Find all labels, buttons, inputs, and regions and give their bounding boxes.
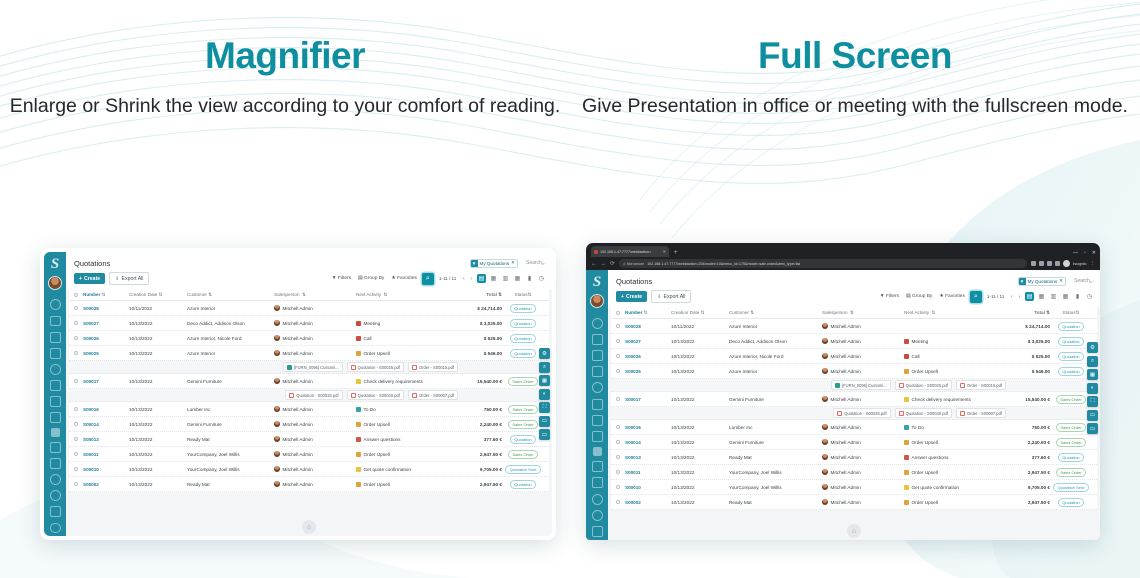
cell-salesperson: Mitchell Admin [822, 454, 904, 460]
sidebar-item-home[interactable] [50, 299, 61, 310]
table-row[interactable]: S0002710/13/2022Deco Addict, Addison Ols… [611, 334, 1097, 349]
pivot-view-button[interactable]: ▦ [1061, 292, 1070, 301]
sidebar-item-contacts[interactable] [592, 399, 603, 410]
home-indicator[interactable]: ⌂ [302, 520, 316, 534]
theme-icon[interactable]: ◐ [1087, 383, 1098, 394]
activity-icon [904, 339, 909, 344]
table-row[interactable]: S0001610/13/2022Lumber IncMitchell Admin… [611, 420, 1097, 435]
cell-next-activity[interactable] [904, 324, 1000, 329]
attachment-chip[interactable]: [FURN_0096] Customi... [831, 380, 891, 390]
minimize-icon[interactable]: — [1073, 250, 1078, 256]
row-checkbox[interactable] [616, 324, 625, 328]
cell-customer: Gemini Furniture [187, 422, 274, 427]
activity-icon [356, 407, 361, 412]
row-checkbox[interactable] [616, 425, 625, 429]
row-checkbox[interactable] [74, 306, 83, 310]
column-header-next-activity[interactable]: Next Activity ⇅ [356, 292, 452, 298]
cell-status: Sales Order [502, 420, 544, 429]
close-icon[interactable]: ✕ [1059, 278, 1065, 284]
cell-total: $ 525.00 [1000, 354, 1050, 359]
cell-number[interactable]: S00017 [83, 379, 129, 384]
row-checkbox[interactable] [616, 485, 625, 489]
table-row[interactable]: S0002510/13/2022Azure InteriorMitchell A… [69, 346, 549, 361]
favorites-button[interactable]: ★ Favorites [389, 275, 419, 282]
sidebar-item-calendar[interactable] [50, 332, 61, 343]
row-checkbox[interactable] [616, 369, 625, 373]
close-icon[interactable]: ✕ [511, 260, 517, 266]
row-checkbox[interactable] [74, 422, 83, 426]
table-row[interactable]: S0001610/13/2022Lumber IncMitchell Admin… [69, 402, 549, 417]
row-checkbox[interactable] [616, 455, 625, 459]
settings-icon[interactable]: ⚙ [1087, 342, 1098, 353]
attachment-row: [FURN_0096] Customi...Quotation - S00025… [611, 379, 1097, 392]
cell-creation-date: 10/11/2022 [671, 324, 729, 329]
table-row[interactable]: S0001710/13/2022Gemini FurnitureMitchell… [69, 374, 549, 389]
column-header-total[interactable]: Total ⇅ [452, 292, 502, 298]
table-row[interactable]: S0001010/13/2022YourCompany, Joel Willis… [611, 480, 1097, 495]
magnifier-icon: ⌕ [426, 275, 430, 283]
cell-number[interactable]: S00026 [625, 354, 671, 359]
column-header-salesperson[interactable]: Salesperson ⇅ [274, 292, 356, 298]
feature-headings: Magnifier Enlarge or Shrink the view acc… [0, 36, 1140, 120]
column-header-customer[interactable]: Customer ⇅ [187, 292, 274, 298]
extension-icon[interactable] [1055, 261, 1060, 266]
cell-number[interactable]: S00026 [83, 336, 129, 341]
pdf-file-icon [899, 411, 904, 416]
cell-creation-date: 10/13/2022 [671, 397, 729, 402]
group-by-button[interactable]: ▤ Group By [904, 293, 934, 300]
app-actionbar: + Create ⇩ Export All ▼ Filters ▤ [66, 272, 552, 289]
row-checkbox[interactable] [74, 379, 83, 383]
row-checkbox[interactable] [74, 351, 83, 355]
export-all-button[interactable]: ⇩ Export All [109, 272, 149, 285]
table-row[interactable]: S0001710/13/2022Gemini FurnitureMitchell… [611, 392, 1097, 407]
list-view-button[interactable]: ▤ [1025, 292, 1034, 301]
table-body: S0002810/11/2022Azure InteriorMitchell A… [69, 301, 549, 492]
sidebar-item-settings[interactable] [592, 382, 603, 393]
cell-number[interactable]: S00016 [83, 407, 129, 412]
clock-icon: ◷ [539, 275, 544, 282]
extension-icon[interactable] [1047, 261, 1052, 266]
page-title: Quotations [616, 277, 652, 286]
filters-button[interactable]: ▼ Filters [330, 275, 353, 282]
avatar [274, 421, 280, 427]
kebab-menu-icon[interactable]: ⋮ [1090, 261, 1096, 267]
sidebar-item-notes[interactable] [592, 526, 603, 537]
row-checkbox[interactable] [74, 467, 83, 471]
column-header-number[interactable]: Number ⇅ [625, 310, 671, 316]
table-row[interactable]: S0002810/11/2022Azure InteriorMitchell A… [69, 301, 549, 316]
column-header-status[interactable]: Status ⇅ [502, 292, 544, 298]
column-header-total[interactable]: Total ⇅ [1000, 310, 1050, 316]
cell-next-activity[interactable]: Meeting [356, 321, 452, 326]
cell-total: 2,947.50 € [452, 452, 502, 457]
cell-status: Quotation [1050, 322, 1092, 331]
activity-view-button[interactable]: ◷ [1085, 292, 1094, 301]
column-header-number[interactable]: Number ⇅ [83, 292, 129, 298]
favorites-button[interactable]: ★ Favorites [937, 293, 967, 300]
group-by-button[interactable]: ▤ Group By [356, 275, 386, 282]
activity-icon [904, 485, 909, 490]
floating-toolbar[interactable]: ⚙⌕▦◐⛶▭▭ [539, 348, 550, 440]
sidebar-item-close[interactable] [51, 428, 60, 437]
sidebar-item-calendar[interactable] [592, 350, 603, 361]
cell-next-activity[interactable]: Check delivery requirements [904, 397, 1000, 402]
sidebar-item-contacts[interactable] [50, 380, 61, 391]
cell-next-activity[interactable]: Get quote confirmation [904, 485, 1000, 490]
sidebar-item-purchase[interactable] [592, 477, 603, 488]
attachment-chip[interactable]: Quotation - S00040.pdf [347, 390, 404, 400]
view-controls: ▼ Filters ▤ Group By ★ Favorites ⌕ [330, 273, 546, 285]
pivot-view-button[interactable]: ▦ [513, 274, 522, 283]
app-sidebar[interactable]: S [44, 252, 66, 536]
cell-customer: Azure Interior [187, 306, 274, 311]
cell-status: Quotation [502, 319, 544, 328]
cell-number[interactable]: S00014 [625, 440, 671, 445]
sidebar-item-close[interactable] [593, 447, 602, 456]
plus-icon: + [79, 276, 82, 282]
search-facet-my-quotations[interactable]: ▼ My Quotations ✕ [1018, 277, 1066, 286]
odoo-logo-icon[interactable]: S [589, 274, 606, 291]
cell-number[interactable]: S00011 [625, 470, 671, 475]
row-checkbox[interactable] [74, 437, 83, 441]
magnifier-button[interactable]: ⌕ [422, 273, 434, 285]
sidebar-item-purchase[interactable] [50, 458, 61, 469]
avatar [274, 350, 280, 356]
attachment-chip[interactable]: [FURN_0096] Customi... [283, 362, 343, 372]
cell-creation-date: 10/13/2022 [671, 440, 729, 445]
table-row[interactable]: S0000210/13/2022Ready MatMitchell AdminO… [611, 495, 1097, 510]
cell-number[interactable]: S00002 [625, 500, 671, 505]
avatar[interactable] [48, 276, 62, 290]
table-row[interactable]: S0002610/13/2022Azure Interior, Nicole F… [69, 331, 549, 346]
cell-status: Sales Order [1050, 395, 1092, 404]
cell-total: 750.00 € [1000, 425, 1050, 430]
table-row[interactable]: S0001110/13/2022YourCompany, Joel Willis… [611, 465, 1097, 480]
reload-icon[interactable]: ⟳ [610, 261, 615, 267]
cell-status: Quotation [1050, 367, 1092, 376]
cell-next-activity[interactable]: Call [356, 336, 452, 341]
column-header-salesperson[interactable]: Salesperson ⇅ [822, 310, 904, 316]
grid-icon[interactable]: ▦ [539, 375, 550, 386]
cell-next-activity[interactable]: Order Upsell [356, 422, 452, 427]
cell-number[interactable]: S00016 [625, 425, 671, 430]
profile-avatar[interactable] [1063, 260, 1070, 267]
cell-status: Quotation [502, 480, 544, 489]
sidebar-item-inventory[interactable] [50, 348, 61, 359]
clock-icon: ◷ [1087, 293, 1092, 300]
kanban-view-button[interactable]: ▦ [1037, 292, 1046, 301]
cell-number[interactable]: S00002 [83, 482, 129, 487]
close-icon[interactable]: ✕ [1092, 250, 1096, 256]
table-row[interactable]: S0002710/13/2022Deco Addict, Addison Ols… [69, 316, 549, 331]
browser-extensions[interactable]: Incognito ⋮ [1031, 260, 1095, 267]
cell-status: Quotation [1050, 453, 1092, 462]
address-bar[interactable]: ⚠ Not secure 192.168.1.47:7777/web#actio… [619, 259, 1027, 268]
sidebar-item-sales[interactable] [50, 316, 61, 327]
arrow-left-icon[interactable]: ← [591, 261, 597, 267]
cell-total: $ 525.00 [452, 336, 502, 341]
avatar [822, 353, 828, 359]
theme-icon[interactable]: ◐ [539, 389, 550, 400]
magnifier-button[interactable]: ⌕ [970, 291, 982, 303]
select-all-checkbox[interactable] [74, 293, 83, 297]
attachment-chip[interactable]: Quotation - S00025.pdf [895, 380, 952, 390]
row-checkbox[interactable] [616, 354, 625, 358]
cell-creation-date: 10/13/2022 [671, 369, 729, 374]
filter-icon: ▼ [880, 294, 885, 299]
cell-next-activity[interactable]: Order Upsell [356, 482, 452, 487]
fullscreen-screenshot: 192.168.1.47:7777/web#action= ✕ + — ▫ ✕ … [586, 243, 1100, 540]
column-header-creation-date[interactable]: Creation Date ⇅ [129, 292, 187, 298]
attachment-chip[interactable]: Order - S00007.pdf [408, 390, 458, 400]
cell-number[interactable]: S00025 [625, 369, 671, 374]
chevron-right-icon[interactable]: › [469, 276, 474, 282]
filter-icon: ▼ [332, 276, 337, 281]
odoo-logo-icon[interactable]: S [47, 256, 64, 273]
attachment-chip[interactable]: Quotation - S00025.pdf [833, 408, 890, 418]
attachment-chips: [FURN_0096] Customi...Quotation - S00025… [831, 380, 1006, 390]
chevron-right-icon[interactable]: › [1017, 294, 1022, 300]
sidebar-item-invoice[interactable] [592, 415, 603, 426]
pivot-icon: ▦ [515, 275, 521, 282]
cell-number[interactable]: S00017 [625, 397, 671, 402]
floating-toolbar[interactable]: ⚙⌕▦◐⛶▭▭ [1087, 342, 1098, 434]
cell-status: Sales Order [1050, 438, 1092, 447]
attachment-chip[interactable]: Order - S00015.pdf [956, 380, 1006, 390]
attachment-chip[interactable]: Quotation - S00025.pdf [347, 362, 404, 372]
cell-number[interactable]: S00028 [625, 324, 671, 329]
sidebar-item-sales[interactable] [592, 334, 603, 345]
cell-total: $ 3,025.00 [452, 321, 502, 326]
cell-customer: YourCompany, Joel Willis [729, 485, 822, 490]
home-indicator[interactable]: ⌂ [847, 524, 861, 538]
sidebar-item-invoice[interactable] [50, 396, 61, 407]
cell-status: Quotation [502, 304, 544, 313]
attachment-chip[interactable]: Order - S00007.pdf [956, 408, 1006, 418]
attachment-row: Quotation - S00025.pdfQuotation - S00040… [611, 407, 1097, 420]
cell-number[interactable]: S00028 [83, 306, 129, 311]
filters-button[interactable]: ▼ Filters [878, 293, 901, 300]
window-controls[interactable]: — ▫ ✕ [1073, 250, 1096, 256]
bookmark-icon[interactable]: ▭ [539, 416, 550, 427]
table-row[interactable]: S0001410/13/2022Gemini FurnitureMitchell… [69, 417, 549, 432]
avatar [274, 436, 280, 442]
bookmark-icon[interactable]: ▭ [1087, 410, 1098, 421]
cell-number[interactable]: S00027 [83, 321, 129, 326]
search-facet-my-quotations[interactable]: ▼ My Quotations ✕ [470, 259, 518, 268]
chevron-down-icon[interactable]: ⌄ [540, 260, 545, 267]
sidebar-item-gear[interactable] [50, 523, 61, 534]
app-sidebar[interactable]: S [586, 270, 608, 540]
cell-next-activity[interactable]: Get quote confirmation [356, 467, 452, 472]
cell-next-activity[interactable]: Call [904, 354, 1000, 359]
maximize-icon[interactable]: ▫ [1084, 250, 1086, 256]
cell-next-activity[interactable]: Order Upsell [904, 470, 1000, 475]
cell-next-activity[interactable]: To Do [356, 407, 452, 412]
fullscreen-icon[interactable]: ⛶ [1087, 396, 1098, 407]
sidebar-item-chart[interactable] [592, 461, 603, 472]
table-row[interactable]: S0002810/11/2022Azure InteriorMitchell A… [611, 319, 1097, 334]
pager-range: 1-11 / 11 [437, 276, 458, 281]
filters-label: Filters [338, 276, 351, 281]
sidebar-item-notes[interactable] [50, 506, 61, 517]
cell-number[interactable]: S00013 [83, 437, 129, 442]
graph-view-button[interactable]: ▮ [525, 274, 534, 283]
cell-number[interactable]: S00025 [83, 351, 129, 356]
cell-next-activity[interactable] [356, 306, 452, 311]
cell-status: Sales Order [502, 450, 544, 459]
download-icon: ⇩ [657, 294, 661, 300]
cell-customer: Lumber Inc [187, 407, 274, 412]
cell-salesperson: Mitchell Admin [822, 353, 904, 359]
cell-salesperson: Mitchell Admin [274, 305, 356, 311]
attachment-chip[interactable]: Quotation - S00040.pdf [895, 408, 952, 418]
create-button[interactable]: + Create [74, 273, 105, 284]
table-row[interactable]: S0001310/13/2022Ready MatMitchell AdminA… [611, 450, 1097, 465]
pivot-icon: ▦ [1063, 293, 1069, 300]
cell-number[interactable]: S00010 [83, 467, 129, 472]
attachment-chip[interactable]: Quotation - S00025.pdf [285, 390, 342, 400]
graph-view-button[interactable]: ▮ [1073, 292, 1082, 301]
star-icon: ★ [939, 294, 943, 299]
cell-number[interactable]: S00014 [83, 422, 129, 427]
cell-next-activity[interactable]: Check delivery requirements [356, 379, 452, 384]
column-header-customer[interactable]: Customer ⇅ [729, 310, 822, 316]
avatar [822, 368, 828, 374]
cell-number[interactable]: S00013 [625, 455, 671, 460]
group-icon: ▤ [358, 276, 363, 281]
sidebar-item-chart[interactable] [50, 442, 61, 453]
table-row[interactable]: S0001110/13/2022YourCompany, Joel Willis… [69, 447, 549, 462]
shortcut-icon[interactable]: ▭ [1087, 423, 1098, 434]
page-title: Quotations [74, 259, 110, 268]
pdf-file-icon [960, 411, 965, 416]
cell-status: Sales Order [502, 405, 544, 414]
settings-icon[interactable]: ⚙ [539, 348, 550, 359]
table-row[interactable]: S0002610/13/2022Azure Interior, Nicole F… [611, 349, 1097, 364]
avatar [274, 406, 280, 412]
kanban-view-button[interactable]: ▦ [489, 274, 498, 283]
row-checkbox[interactable] [616, 440, 625, 444]
table-row[interactable]: S0000210/13/2022Ready MatMitchell AdminO… [69, 477, 549, 492]
cell-creation-date: 10/13/2022 [671, 485, 729, 490]
avatar [822, 499, 828, 505]
close-icon[interactable]: ✕ [663, 249, 666, 254]
row-checkbox[interactable] [616, 470, 625, 474]
cell-number[interactable]: S00011 [83, 452, 129, 457]
avatar [822, 454, 828, 460]
sidebar-item-home[interactable] [592, 318, 603, 329]
cell-next-activity[interactable]: Answer questions [356, 437, 452, 442]
browser-tab[interactable]: 192.168.1.47:7777/web#action= ✕ [591, 246, 669, 257]
cell-number[interactable]: S00027 [625, 339, 671, 344]
cell-next-activity[interactable]: To Do [904, 425, 1000, 430]
cell-next-activity[interactable]: Order Upsell [904, 369, 1000, 374]
attachment-chip[interactable]: Order - S00015.pdf [408, 362, 458, 372]
row-checkbox[interactable] [74, 321, 83, 325]
chevron-left-icon[interactable]: ‹ [461, 276, 466, 282]
cell-next-activity[interactable]: Meeting [904, 339, 1000, 344]
table-row[interactable]: S0001310/13/2022Ready MatMitchell AdminA… [69, 432, 549, 447]
activity-icon [356, 422, 361, 427]
cell-next-activity[interactable]: Order Upsell [356, 452, 452, 457]
row-checkbox[interactable] [616, 339, 625, 343]
activity-view-button[interactable]: ◷ [537, 274, 546, 283]
sidebar-item-inventory[interactable] [592, 366, 603, 377]
feature-full-screen: Full Screen Give Presentation in office … [570, 36, 1140, 120]
row-checkbox[interactable] [74, 407, 83, 411]
cell-next-activity[interactable]: Answer questions [904, 455, 1000, 460]
row-checkbox[interactable] [74, 482, 83, 486]
export-all-button[interactable]: ⇩ Export All [651, 290, 691, 303]
cell-creation-date: 10/13/2022 [671, 500, 729, 505]
create-button[interactable]: + Create [616, 291, 647, 302]
cell-total: $ 24,714.00 [452, 306, 502, 311]
table-row[interactable]: S0002510/13/2022Azure InteriorMitchell A… [611, 364, 1097, 379]
row-checkbox[interactable] [74, 336, 83, 340]
row-checkbox[interactable] [74, 452, 83, 456]
column-header-status[interactable]: Status ⇅ [1050, 310, 1092, 316]
chevron-left-icon[interactable]: ‹ [1009, 294, 1014, 300]
fullscreen-icon[interactable]: ⛶ [539, 402, 550, 413]
sidebar-item-employees[interactable] [50, 474, 61, 485]
feature-title: Full Screen [570, 36, 1140, 77]
not-secure-label: ⚠ Not secure [623, 262, 645, 266]
list-view-button[interactable]: ▤ [477, 274, 486, 283]
sidebar-item-users[interactable] [592, 510, 603, 521]
filter-icon: ▼ [471, 259, 478, 268]
sidebar-item-users[interactable] [50, 490, 61, 501]
avatar [274, 320, 280, 326]
avatar [822, 469, 828, 475]
magnifier-icon[interactable]: ⌕ [1087, 356, 1098, 367]
extension-icon[interactable] [1039, 261, 1044, 266]
new-tab-button[interactable]: + [674, 250, 678, 256]
column-header-next-activity[interactable]: Next Activity ⇅ [904, 310, 1000, 316]
sidebar-item-apps[interactable] [50, 412, 61, 423]
table-row[interactable]: S0001010/13/2022YourCompany, Joel Willis… [69, 462, 549, 477]
cell-next-activity[interactable]: Order Upsell [904, 500, 1000, 505]
attachment-chips: [FURN_0096] Customi...Quotation - S00025… [283, 362, 458, 372]
row-checkbox[interactable] [616, 500, 625, 504]
cell-total: $ 24,714.00 [1000, 324, 1050, 329]
select-all-checkbox[interactable] [616, 311, 625, 315]
avatar[interactable] [590, 294, 604, 308]
calendar-view-button[interactable]: ▥ [501, 274, 510, 283]
extension-icon[interactable] [1031, 261, 1036, 266]
arrow-right-icon[interactable]: → [601, 261, 607, 267]
magnifier-icon[interactable]: ⌕ [539, 362, 550, 373]
row-checkbox[interactable] [616, 397, 625, 401]
grid-icon[interactable]: ▦ [1087, 369, 1098, 380]
cell-number[interactable]: S00010 [625, 485, 671, 490]
chevron-down-icon[interactable]: ⌄ [1088, 278, 1093, 285]
sidebar-item-employees[interactable] [592, 494, 603, 505]
sidebar-item-settings[interactable] [50, 364, 61, 375]
table-row[interactable]: S0001410/13/2022Gemini FurnitureMitchell… [611, 435, 1097, 450]
cell-creation-date: 10/13/2022 [129, 452, 187, 457]
cell-creation-date: 10/13/2022 [129, 336, 187, 341]
list-icon: ▤ [1027, 293, 1033, 300]
column-header-creation-date[interactable]: Creation Date ⇅ [671, 310, 729, 316]
sidebar-item-apps[interactable] [592, 431, 603, 442]
calendar-view-button[interactable]: ▥ [1049, 292, 1058, 301]
cell-next-activity[interactable]: Order Upsell [904, 440, 1000, 445]
group-icon: ▤ [906, 294, 911, 299]
cell-next-activity[interactable]: Order Upsell [356, 351, 452, 356]
shortcut-icon[interactable]: ▭ [539, 429, 550, 440]
